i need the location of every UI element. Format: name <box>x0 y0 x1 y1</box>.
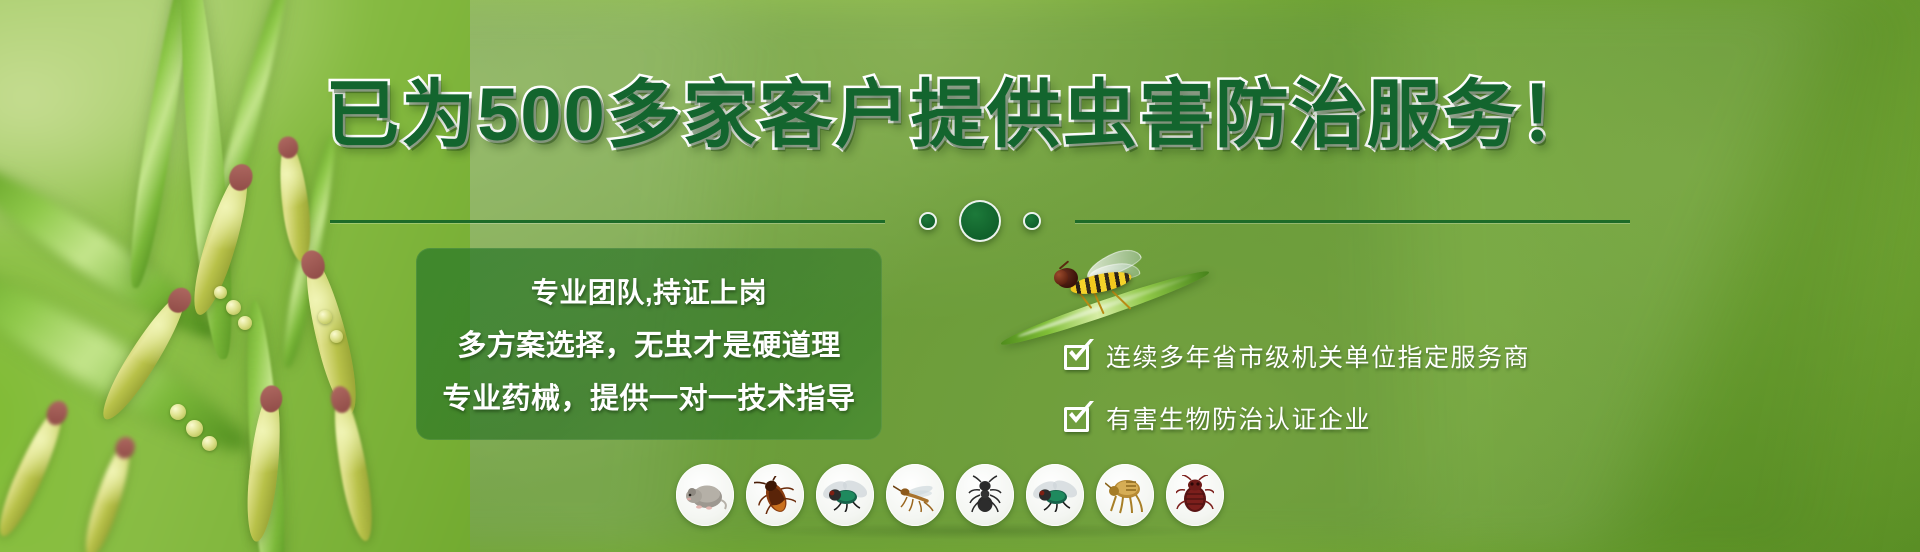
hoverfly-photo <box>1040 250 1160 312</box>
flower-bud <box>318 310 332 324</box>
pest-type-strip <box>676 464 1224 526</box>
list-item: 有害生物防治认证企业 <box>1064 400 1530 436</box>
flower-bud <box>238 316 252 330</box>
pest-icon-cockroach[interactable] <box>746 464 804 526</box>
section-divider <box>330 196 1630 246</box>
list-item: 连续多年省市级机关单位指定服务商 <box>1064 338 1530 374</box>
flower-bud <box>214 286 227 299</box>
feature-line-2: 多方案选择，无虫才是硬道理 <box>457 322 841 364</box>
credential-label: 连续多年省市级机关单位指定服务商 <box>1106 338 1530 374</box>
flower-bud <box>226 300 241 315</box>
features-panel: 专业团队,持证上岗 多方案选择，无虫才是硬道理 专业药械，提供一对一技术指导 <box>416 248 882 440</box>
flower-bud <box>186 420 203 437</box>
checkbox-checked-icon <box>1064 342 1092 370</box>
divider-dot-large <box>959 200 1001 242</box>
divider-dot-small-right <box>1023 212 1041 230</box>
credential-label: 有害生物防治认证企业 <box>1106 400 1371 436</box>
pest-icon-bedbug[interactable] <box>1166 464 1224 526</box>
page-title: 已为500多家客户提供虫害防治服务！ <box>0 78 1920 152</box>
checkbox-checked-icon <box>1064 404 1092 432</box>
pest-icon-fly[interactable] <box>816 464 874 526</box>
fly-eye <box>1054 270 1068 285</box>
feature-line-1: 专业团队,持证上岗 <box>531 271 767 311</box>
pest-icon-mouse[interactable] <box>676 464 734 526</box>
pest-icon-ant[interactable] <box>956 464 1014 526</box>
fly-leg <box>1093 292 1105 315</box>
divider-rule-left <box>330 220 885 223</box>
feature-line-3: 专业药械，提供一对一技术指导 <box>442 375 855 417</box>
divider-dots <box>885 200 1075 242</box>
divider-dot-small-left <box>919 212 937 230</box>
credentials-list: 连续多年省市级机关单位指定服务商 有害生物防治认证企业 <box>1064 338 1530 436</box>
fly-leg <box>1111 290 1131 309</box>
pest-icon-flea[interactable] <box>1096 464 1154 526</box>
flower-bud <box>202 436 217 451</box>
divider-rule-right <box>1075 220 1630 223</box>
hero-banner: 已为500多家客户提供虫害防治服务！ 专业团队,持证上岗 多方案选择，无虫才是硬… <box>0 0 1920 552</box>
pest-icon-mosquito[interactable] <box>886 464 944 526</box>
pest-icon-fly[interactable] <box>1026 464 1084 526</box>
flower-bud <box>330 330 343 343</box>
flower-bud <box>170 404 186 420</box>
